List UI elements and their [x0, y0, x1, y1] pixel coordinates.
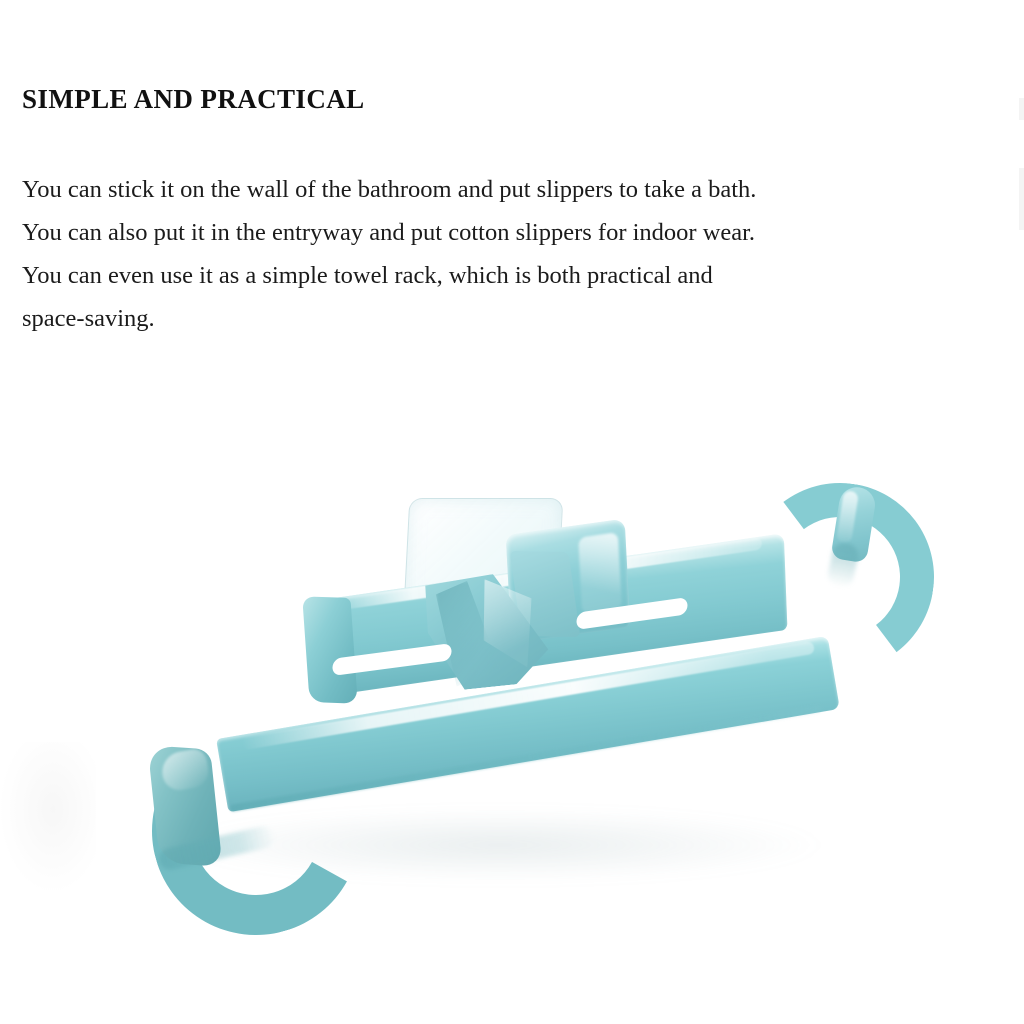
paragraph-line: space-saving. — [22, 297, 982, 340]
page-title: SIMPLE AND PRACTICAL — [22, 82, 982, 116]
edge-artifact-middle — [1019, 168, 1024, 230]
paragraph-line: You can stick it on the wall of the bath… — [22, 168, 982, 211]
corner-artifact-bottom-left — [0, 742, 96, 892]
paragraph-line: You can even use it as a simple towel ra… — [22, 254, 982, 297]
description-paragraph: You can stick it on the wall of the bath… — [22, 168, 982, 340]
description-text-block: SIMPLE AND PRACTICAL You can stick it on… — [22, 82, 982, 116]
back-rail-end-cap — [302, 596, 358, 703]
paragraph-line: You can also put it in the entryway and … — [22, 211, 982, 254]
rail-block-gloss — [578, 532, 622, 614]
product-image — [110, 455, 940, 925]
product-description-page: SIMPLE AND PRACTICAL You can stick it on… — [0, 0, 1024, 1024]
edge-artifact-top — [1019, 98, 1024, 120]
